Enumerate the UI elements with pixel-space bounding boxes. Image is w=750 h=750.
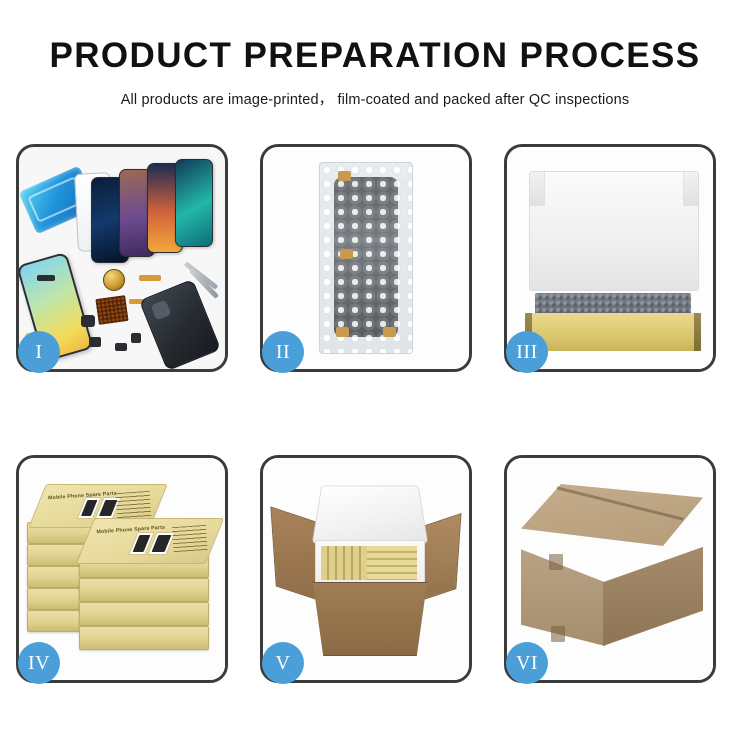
speaker-coil-icon [103, 269, 125, 291]
step-panel-1[interactable]: I [16, 144, 228, 372]
copper-mesh-icon [95, 295, 128, 325]
tape-icon [383, 327, 396, 337]
chip-icon [37, 275, 55, 281]
box-text-lines [116, 491, 152, 519]
box-lid-icon [529, 171, 699, 291]
chip-icon [89, 337, 101, 347]
kraft-box-base-icon [525, 313, 701, 351]
retail-box [79, 626, 209, 650]
tape-icon [336, 327, 349, 337]
step-badge-5: V [262, 642, 304, 684]
step-panel-5[interactable]: V [260, 455, 472, 683]
chip-icon [131, 333, 141, 343]
tape-icon [340, 249, 353, 259]
tape-icon [551, 626, 565, 642]
tape-icon [549, 554, 563, 570]
step-badge-4: IV [18, 642, 60, 684]
flex-cable-icon [139, 275, 161, 281]
box-text-lines [172, 525, 208, 553]
retail-box [79, 602, 209, 626]
retail-box-lid: Mobile Phone Spare Parts [76, 518, 225, 564]
shipping-carton-icon [305, 582, 435, 656]
phone-teal-icon [175, 159, 213, 247]
foam-cooler-lid-icon [312, 486, 428, 544]
process-steps-grid: I II III [16, 144, 736, 683]
retail-box [79, 578, 209, 602]
chip-icon [81, 315, 95, 327]
page-header: PRODUCT PREPARATION PROCESS All products… [0, 0, 750, 109]
step-panel-3[interactable]: III [504, 144, 716, 372]
step-badge-2: II [262, 331, 304, 373]
step-panel-6[interactable]: VI [504, 455, 716, 683]
chip-icon [115, 343, 127, 351]
step-badge-1: I [18, 331, 60, 373]
step-badge-6: VI [506, 642, 548, 684]
page-title: PRODUCT PREPARATION PROCESS [0, 38, 750, 75]
packed-boxes-icon [367, 546, 417, 580]
page-subtitle: All products are image-printed， film-coa… [0, 88, 750, 109]
bubble-wrap-package-icon [319, 162, 413, 354]
step-badge-3: III [506, 331, 548, 373]
carton-right-face [603, 528, 703, 646]
step-panel-4[interactable]: Mobile Phone Spare Parts Mobile Phone Sp… [16, 455, 228, 683]
step-panel-2[interactable]: II [260, 144, 472, 372]
tape-icon [338, 171, 351, 181]
